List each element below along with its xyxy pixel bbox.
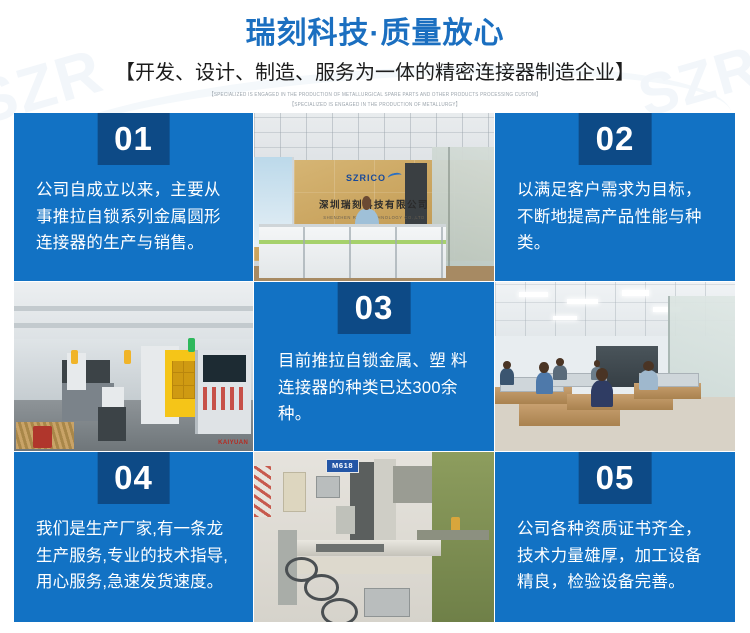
mill-motor-box bbox=[336, 506, 355, 533]
mill-model-label: M618 bbox=[326, 459, 359, 473]
office-light-2 bbox=[567, 299, 598, 304]
office-light-1 bbox=[519, 292, 548, 297]
feature-cell-03: 03 目前推拉自锁金属、塑 料 连接器的种类已达300余 种。 bbox=[254, 282, 494, 451]
machine-brand-label: KAIYUAN bbox=[218, 440, 248, 446]
logo-swoosh-icon bbox=[387, 172, 402, 182]
machine-buttons bbox=[203, 387, 246, 411]
workshop-bin-red bbox=[33, 426, 52, 448]
company-logo-szrico: SZRICO bbox=[346, 173, 402, 183]
company-name-cn: 深圳瑞刻科技有限公司 bbox=[319, 197, 429, 211]
english-tagline-line2: 【SPECIALIZED IS ENGAGED IN THE PRODUCTIO… bbox=[0, 100, 750, 110]
signal-lamp-1-icon bbox=[71, 350, 78, 364]
feature-cell-04: 04 我们是生产厂家,有一条龙 生产服务,专业的技术指导, 用心服务,急速发货速… bbox=[14, 452, 253, 622]
office-person-6 bbox=[639, 370, 658, 390]
feature-grid: 01 公司自成立以来，主要从 事推拉自锁系列金属圆形 连接器的生产与销售。 SZ… bbox=[14, 113, 735, 620]
office-person-5 bbox=[591, 380, 613, 407]
mill-green-table bbox=[417, 530, 489, 540]
feature-number-04: 04 bbox=[97, 452, 170, 504]
office-person-3 bbox=[553, 365, 567, 380]
photo-office bbox=[495, 282, 735, 451]
logo-text: SZRICO bbox=[346, 173, 386, 183]
feature-number-02: 02 bbox=[579, 113, 652, 165]
office-person-1 bbox=[500, 368, 514, 385]
feature-cell-01: 01 公司自成立以来，主要从 事推拉自锁系列金属圆形 连接器的生产与销售。 bbox=[14, 113, 253, 281]
mill-handwheel-3 bbox=[321, 598, 358, 622]
page-title: 瑞刻科技·质量放心 bbox=[0, 17, 750, 52]
feature-cell-02: 02 以满足客户需求为目标， 不断地提高产品性能与种 类。 bbox=[495, 113, 735, 281]
page-subtitle: 【开发、设计、制造、服务为一体的精密连接器制造企业】 bbox=[0, 61, 750, 85]
feature-number-05: 05 bbox=[579, 452, 652, 504]
mill-workpiece bbox=[316, 544, 383, 553]
workshop-beam-2 bbox=[14, 323, 253, 328]
english-tagline: 【SPECIALIZED IS ENGAGED IN THE PRODUCTIO… bbox=[0, 89, 750, 109]
feature-text-03: 目前推拉自锁金属、塑 料 连接器的种类已达300余 种。 bbox=[278, 348, 478, 428]
signal-lamp-2-icon bbox=[124, 350, 131, 364]
feature-text-04: 我们是生产厂家,有一条龙 生产服务,专业的技术指导, 用心服务,急速发货速度。 bbox=[36, 516, 237, 596]
feature-number-03: 03 bbox=[338, 282, 411, 334]
signal-lamp-3-icon bbox=[188, 338, 195, 352]
mill-wall-box bbox=[316, 476, 340, 498]
page-header: 瑞刻科技·质量放心 【开发、设计、制造、服务为一体的精密连接器制造企业】 【SP… bbox=[0, 0, 750, 108]
photo-reception: SZRICO 深圳瑞刻科技有限公司 SHENZHEN RICO TECHNOLO… bbox=[254, 113, 494, 281]
mill-wall-poster-red bbox=[254, 466, 271, 517]
office-light-3 bbox=[622, 290, 648, 295]
workshop-beam-1 bbox=[14, 306, 253, 311]
photo-cnc-workshop: KAIYUAN bbox=[14, 282, 253, 451]
office-light-5 bbox=[553, 316, 577, 320]
mill-handwheel-2 bbox=[304, 574, 339, 600]
feature-cell-05: 05 公司各种资质证书齐全， 技术力量雄厚，加工设备 精良，检验设备完善。 bbox=[495, 452, 735, 622]
photo-milling-machine: M618 bbox=[254, 452, 494, 622]
machine-aux-base bbox=[98, 407, 127, 441]
feature-text-02: 以满足客户需求为目标， 不断地提高产品性能与种 类。 bbox=[517, 177, 719, 257]
office-person-2 bbox=[536, 372, 553, 394]
workshop-ceiling bbox=[14, 282, 253, 339]
mill-tool-tray bbox=[364, 588, 409, 617]
english-tagline-line1: 【SPECIALIZED IS ENGAGED IN THE PRODUCTIO… bbox=[0, 89, 750, 99]
machine-screen bbox=[203, 355, 246, 382]
feature-text-01: 公司自成立以来，主要从 事推拉自锁系列金属圆形 连接器的生产与销售。 bbox=[36, 177, 237, 257]
mill-notice-paper bbox=[283, 472, 307, 511]
feature-text-05: 公司各种资质证书齐全， 技术力量雄厚，加工设备 精良，检验设备完善。 bbox=[517, 516, 719, 596]
reception-desk bbox=[259, 224, 446, 277]
mill-head-housing bbox=[393, 466, 431, 503]
feature-number-01: 01 bbox=[97, 113, 170, 165]
